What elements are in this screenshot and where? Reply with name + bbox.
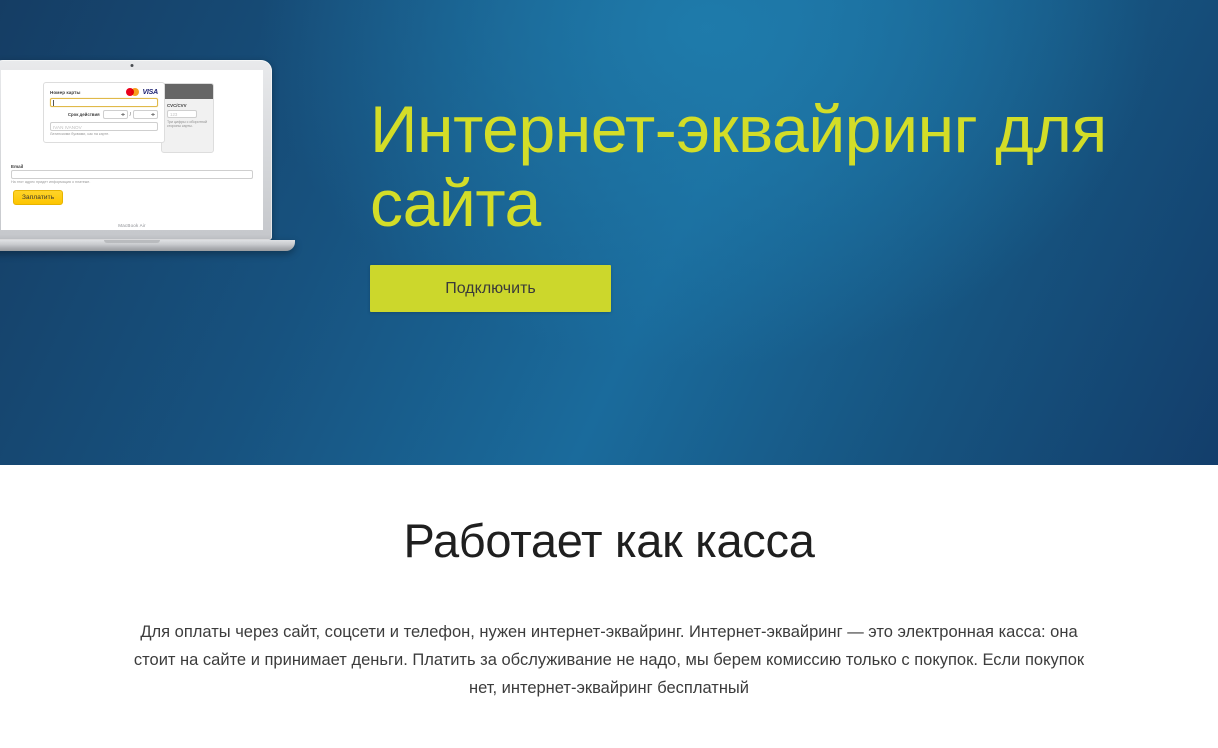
cvc-label: CVC/CVV [167, 103, 209, 108]
card-magnetic-stripe [162, 84, 213, 99]
pay-submit-button[interactable]: Заплатить [13, 190, 63, 205]
laptop-mockup: CVC/CVV 123 Три цифры с оборотной сторон… [0, 60, 295, 251]
laptop-screen: CVC/CVV 123 Три цифры с оборотной сторон… [1, 70, 263, 230]
main-section: Работает как касса Для оплаты через сайт… [0, 513, 1218, 748]
card-panel: Номер карты VISA Срок дейс [43, 82, 165, 143]
expiry-month-select[interactable] [103, 110, 128, 119]
expiry-year-select[interactable] [133, 110, 158, 119]
hero-copy: Интернет-эквайринг для сайта Подключить [370, 92, 1200, 312]
card-brand-logos: VISA [126, 88, 158, 96]
cvc-input[interactable]: 123 [167, 110, 197, 118]
cardholder-input[interactable]: IVAN IVANOV [50, 122, 158, 131]
email-input[interactable] [11, 170, 253, 179]
mastercard-icon [126, 88, 139, 96]
card-number-header: Номер карты VISA [50, 88, 158, 96]
laptop-base [0, 240, 295, 251]
connect-button[interactable]: Подключить [370, 265, 611, 312]
expiry-separator: / [130, 112, 131, 118]
email-hint: На этот адрес придет информация о платеж… [11, 180, 253, 184]
payment-form: CVC/CVV 123 Три цифры с оборотной сторон… [9, 82, 255, 205]
visa-icon: VISA [142, 89, 158, 96]
text-caret [53, 100, 54, 106]
cvc-body: CVC/CVV 123 Три цифры с оборотной сторон… [162, 99, 213, 129]
webcam-dot-icon [131, 64, 134, 67]
card-row: CVC/CVV 123 Три цифры с оборотной сторон… [9, 82, 255, 160]
laptop-notch [104, 240, 160, 243]
email-label: Email [11, 164, 253, 169]
page-title: Интернет-эквайринг для сайта [370, 92, 1200, 240]
card-number-label: Номер карты [50, 90, 80, 95]
section-lead: Для оплаты через сайт, соцсети и телефон… [133, 618, 1085, 702]
cvc-panel: CVC/CVV 123 Три цифры с оборотной сторон… [161, 83, 214, 153]
cvc-hint: Три цифры с оборотной стороны карты. [167, 120, 209, 129]
email-block: Email На этот адрес придет информация о … [9, 164, 255, 205]
expiry-label: Срок действия [68, 112, 100, 117]
section-title: Работает как касса [0, 513, 1218, 568]
cardholder-hint: Латинскими буквами, как на карте. [50, 132, 158, 136]
card-number-input[interactable] [50, 98, 158, 107]
laptop-lid: CVC/CVV 123 Три цифры с оборотной сторон… [0, 60, 272, 240]
expiry-row: Срок действия / [50, 110, 158, 119]
laptop-model-label: MacBook Air [1, 223, 263, 228]
hero-section: CVC/CVV 123 Три цифры с оборотной сторон… [0, 0, 1218, 465]
